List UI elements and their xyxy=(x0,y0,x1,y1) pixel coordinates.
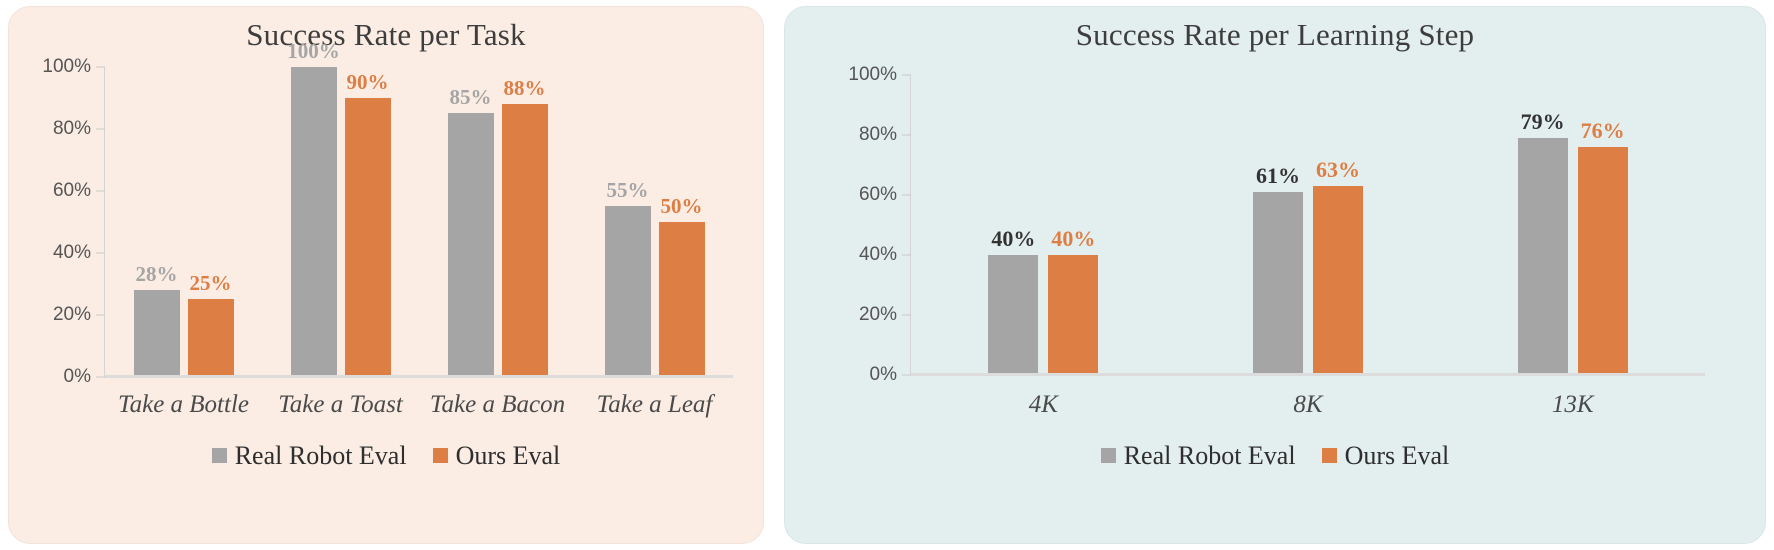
bar-value-label: 40% xyxy=(991,228,1035,250)
x-category-label: Take a Leaf xyxy=(576,377,733,419)
legend-item-real-robot-eval[interactable]: Real Robot Eval xyxy=(1101,441,1296,471)
y-tick-label: 80% xyxy=(859,124,897,146)
y-tick-mark xyxy=(902,74,911,75)
legend-swatch-icon xyxy=(1322,448,1337,463)
bar-ours-eval[interactable] xyxy=(345,98,391,377)
bar-value-label: 85% xyxy=(450,87,492,108)
legend-label: Ours Eval xyxy=(1345,441,1450,471)
bar-ours-eval[interactable] xyxy=(1313,186,1363,375)
y-tick-label: 40% xyxy=(53,242,91,264)
bar-group: 85% 88% xyxy=(419,67,576,377)
y-tick-mark xyxy=(902,134,911,135)
bar-group: 100% 90% xyxy=(262,67,419,377)
bar-real-robot-eval[interactable] xyxy=(291,67,337,377)
legend-swatch-icon xyxy=(1101,448,1116,463)
bar-value-label: 79% xyxy=(1521,111,1565,133)
bar-value-label: 40% xyxy=(1051,228,1095,250)
y-tick-mark xyxy=(96,252,105,253)
bar-slot: 25% xyxy=(188,67,234,377)
x-axis-labels-left: Take a Bottle Take a Toast Take a Bacon … xyxy=(27,377,733,419)
bar-ours-eval[interactable] xyxy=(188,299,234,377)
y-tick-label: 20% xyxy=(53,304,91,326)
chart-panel-success-rate-per-learning-step: Success Rate per Learning Step 100% 80% … xyxy=(784,6,1766,544)
legend-item-ours-eval[interactable]: Ours Eval xyxy=(433,441,561,471)
legend-label: Real Robot Eval xyxy=(1124,441,1296,471)
bar-value-label: 55% xyxy=(607,180,649,201)
y-tick-mark xyxy=(902,254,911,255)
y-tick-label: 40% xyxy=(859,244,897,266)
bar-real-robot-eval[interactable] xyxy=(134,290,180,377)
bar-slot: 50% xyxy=(659,67,705,377)
bar-value-label: 61% xyxy=(1256,165,1300,187)
bar-slot: 40% xyxy=(988,75,1038,375)
bar-slot: 79% xyxy=(1518,75,1568,375)
bar-value-label: 100% xyxy=(287,41,340,62)
bar-ours-eval[interactable] xyxy=(1578,147,1628,375)
plot-right: 100% 80% 60% 40% 20% 0% xyxy=(833,75,1705,375)
bar-real-robot-eval[interactable] xyxy=(1253,192,1303,375)
bar-real-robot-eval[interactable] xyxy=(605,206,651,377)
x-category-label: 13K xyxy=(1440,375,1705,419)
bar-group: 79% 76% xyxy=(1440,75,1705,375)
legend-swatch-icon xyxy=(212,448,227,463)
bar-value-label: 63% xyxy=(1316,159,1360,181)
y-tick-label: 20% xyxy=(859,304,897,326)
bar-value-label: 25% xyxy=(190,273,232,294)
bar-ours-eval[interactable] xyxy=(502,104,548,377)
bar-slot: 76% xyxy=(1578,75,1628,375)
chart-title-right: Success Rate per Learning Step xyxy=(785,7,1765,53)
bar-group: 40% 40% xyxy=(911,75,1176,375)
x-category-label: Take a Bottle xyxy=(105,377,262,419)
bar-slot: 40% xyxy=(1048,75,1098,375)
y-axis-left: 100% 80% 60% 40% 20% 0% xyxy=(27,67,105,377)
x-axis-labels-right: 4K 8K 13K xyxy=(833,375,1705,419)
legend-left: Real Robot Eval Ours Eval xyxy=(9,441,763,471)
bar-slot: 88% xyxy=(502,67,548,377)
bar-ours-eval[interactable] xyxy=(1048,255,1098,375)
legend-right: Real Robot Eval Ours Eval xyxy=(785,441,1765,471)
x-category-label: 4K xyxy=(911,375,1176,419)
y-tick-label: 80% xyxy=(53,118,91,140)
bar-slot: 63% xyxy=(1313,75,1363,375)
bar-real-robot-eval[interactable] xyxy=(988,255,1038,375)
plot-left: 100% 80% 60% 40% 20% 0% xyxy=(27,67,733,377)
legend-swatch-icon xyxy=(433,448,448,463)
legend-label: Ours Eval xyxy=(456,441,561,471)
y-tick-label: 60% xyxy=(53,180,91,202)
bar-groups-right: 40% 40% 61% xyxy=(911,75,1705,375)
y-tick-mark xyxy=(902,194,911,195)
bar-value-label: 50% xyxy=(661,196,703,217)
bar-slot: 55% xyxy=(605,67,651,377)
figure-root: Success Rate per Task 100% 80% 60% 40% 2… xyxy=(0,0,1774,550)
y-axis-right: 100% 80% 60% 40% 20% 0% xyxy=(833,75,911,375)
x-category-label: Take a Bacon xyxy=(419,377,576,419)
x-category-label: Take a Toast xyxy=(262,377,419,419)
bar-value-label: 88% xyxy=(504,78,546,99)
y-tick-mark xyxy=(96,128,105,129)
bar-slot: 61% xyxy=(1253,75,1303,375)
bar-slot: 28% xyxy=(134,67,180,377)
legend-item-ours-eval[interactable]: Ours Eval xyxy=(1322,441,1450,471)
y-tick-label: 100% xyxy=(848,64,897,86)
bar-group: 61% 63% xyxy=(1176,75,1441,375)
y-tick-label: 60% xyxy=(859,184,897,206)
bar-value-label: 76% xyxy=(1581,120,1625,142)
legend-label: Real Robot Eval xyxy=(235,441,407,471)
bar-slot: 85% xyxy=(448,67,494,377)
bar-ours-eval[interactable] xyxy=(659,222,705,377)
bar-group: 28% 25% xyxy=(105,67,262,377)
y-tick-label: 100% xyxy=(42,56,91,78)
bar-real-robot-eval[interactable] xyxy=(448,113,494,377)
y-tick-mark xyxy=(96,314,105,315)
bar-slot: 100% xyxy=(291,67,337,377)
bar-value-label: 90% xyxy=(347,72,389,93)
legend-item-real-robot-eval[interactable]: Real Robot Eval xyxy=(212,441,407,471)
x-category-label: 8K xyxy=(1176,375,1441,419)
plot-area-left: 100% 80% 60% 40% 20% 0% xyxy=(27,67,733,377)
plot-area-right: 100% 80% 60% 40% 20% 0% xyxy=(833,75,1705,375)
bar-value-label: 28% xyxy=(136,264,178,285)
bar-slot: 90% xyxy=(345,67,391,377)
y-tick-mark xyxy=(902,314,911,315)
bar-group: 55% 50% xyxy=(576,67,733,377)
y-tick-mark xyxy=(96,66,105,67)
chart-panel-success-rate-per-task: Success Rate per Task 100% 80% 60% 40% 2… xyxy=(8,6,764,544)
chart-title-left: Success Rate per Task xyxy=(9,7,763,53)
bar-groups-left: 28% 25% 100% xyxy=(105,67,733,377)
y-tick-mark xyxy=(96,190,105,191)
bar-real-robot-eval[interactable] xyxy=(1518,138,1568,375)
